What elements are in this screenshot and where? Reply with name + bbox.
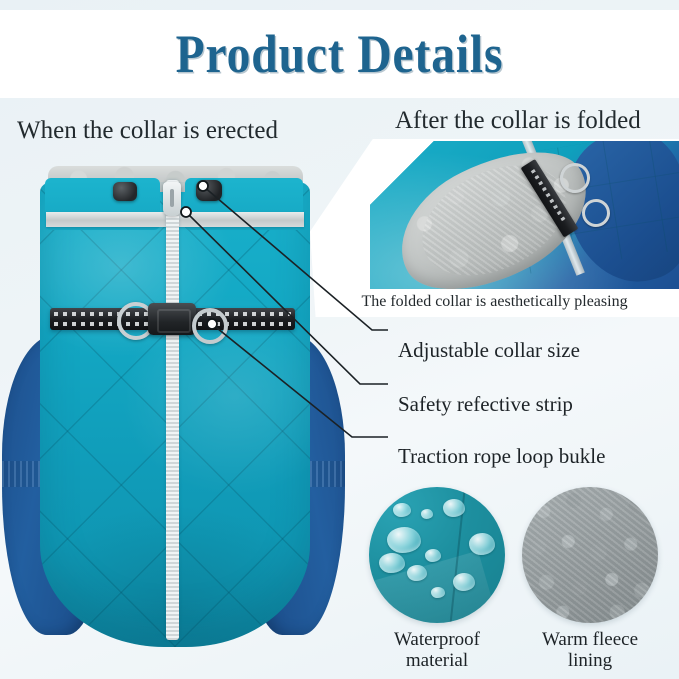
swatch-waterproof-caption: Waterproof material <box>369 629 505 672</box>
coat-zipper <box>166 180 179 640</box>
swatch-fleece-line2: lining <box>522 650 658 671</box>
swatch-fleece-line1: Warm fleece <box>522 629 658 650</box>
swatch-fleece-caption: Warm fleece lining <box>522 629 658 672</box>
waterproof-material-image <box>369 487 505 623</box>
water-droplet-icon <box>453 573 475 591</box>
water-droplet-icon <box>421 509 433 519</box>
water-droplet-icon <box>425 549 441 562</box>
water-droplet-icon <box>407 565 427 581</box>
page-title: Product Details <box>41 10 639 98</box>
swatch-waterproof-material: Waterproof material <box>369 487 505 672</box>
callout-label-adjustable-collar-size: Adjustable collar size <box>398 338 580 363</box>
dog-coat-photo <box>0 160 345 679</box>
callout-label-safety-reflective-strip: Safety refective strip <box>398 392 573 417</box>
water-droplet-icon <box>387 527 421 553</box>
left-section-heading: When the collar is erected <box>17 117 278 145</box>
folded-collar-caption: The folded collar is aesthetically pleas… <box>310 293 679 311</box>
folded-collar-photo <box>370 141 679 289</box>
water-droplet-icon <box>393 503 411 517</box>
water-droplet-icon <box>431 587 445 598</box>
traction-loop-d-ring-icon <box>192 308 228 344</box>
swatch-warm-fleece-lining: Warm fleece lining <box>522 487 658 672</box>
coat-zipper-pull <box>163 182 181 216</box>
swatch-waterproof-line1: Waterproof <box>369 629 505 650</box>
swatch-waterproof-line2: material <box>369 650 505 671</box>
fleece-lining-image <box>522 487 658 623</box>
product-details-infographic: Product Details When the collar is erect… <box>0 0 679 679</box>
water-droplet-icon <box>379 553 405 573</box>
collar-toggle-left <box>113 182 137 201</box>
buckle-icon <box>148 303 196 335</box>
right-section-heading: After the collar is folded <box>395 107 641 135</box>
callout-label-traction-rope-loop-buckle: Traction rope loop bukle <box>398 444 605 469</box>
folded-collar-card: The folded collar is aesthetically pleas… <box>310 139 679 317</box>
water-droplet-icon <box>469 533 495 555</box>
water-droplet-icon <box>443 499 465 517</box>
collar-toggle-right <box>196 180 222 201</box>
